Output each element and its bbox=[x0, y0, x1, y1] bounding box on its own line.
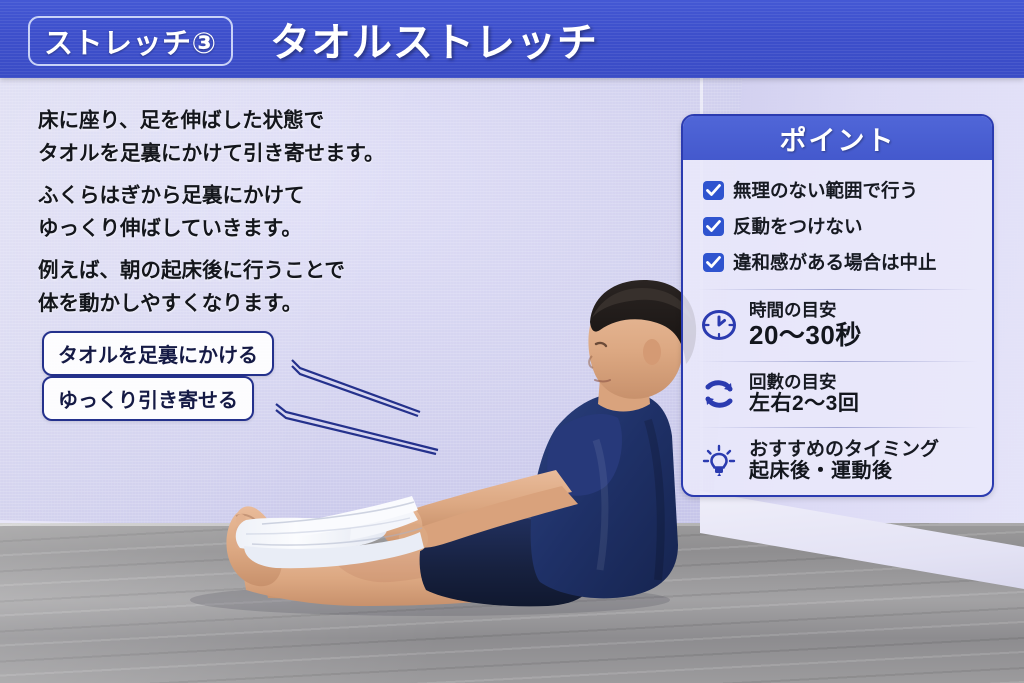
info-duration-texts: 時間の目安 20〜30秒 bbox=[749, 301, 862, 350]
info-repetitions-value: 左右2〜3回 bbox=[749, 392, 859, 416]
description-text: 床に座り、足を伸ばした状態で タオルを足裏にかけて引き寄せます。 ふくらはぎから… bbox=[38, 104, 458, 329]
check-item-1: 無理のない範囲で行う bbox=[683, 172, 992, 208]
point-panel: ポイント 無理のない範囲で行う 反動をつけない 違和感がある場合は中止 bbox=[681, 114, 994, 497]
info-timing-value: 起床後・運動後 bbox=[749, 460, 939, 482]
page-title: タオルストレッチ bbox=[270, 10, 598, 68]
info-repetitions-texts: 回數の目安 左右2〜3回 bbox=[749, 373, 859, 416]
clock-icon bbox=[699, 305, 739, 345]
check-item-2: 反動をつけない bbox=[683, 208, 992, 244]
callout-pull-slowly: ゆっくり引き寄せる bbox=[42, 376, 254, 421]
description-paragraph-3: 例えば、朝の起床後に行うことで 体を動かしやすくなります。 bbox=[38, 254, 458, 320]
description-paragraph-1: 床に座り、足を伸ばした状態で タオルを足裏にかけて引き寄せます。 bbox=[38, 104, 458, 170]
check-icon bbox=[703, 217, 724, 236]
lightbulb-icon bbox=[699, 441, 739, 481]
info-duration: 時間の目安 20〜30秒 bbox=[683, 299, 992, 352]
info-timing: おすすめのタイミング 起床後・運動後 bbox=[683, 437, 992, 485]
check-icon bbox=[703, 253, 724, 272]
info-timing-texts: おすすめのタイミング 起床後・運動後 bbox=[749, 439, 939, 483]
check-item-3: 違和感がある場合は中止 bbox=[683, 244, 992, 280]
info-duration-value: 20〜30秒 bbox=[749, 321, 862, 350]
callout-towel-on-sole: タオルを足裏にかける bbox=[42, 331, 274, 376]
header-bar: ストレッチ③ タオルストレッチ bbox=[0, 0, 1024, 78]
check-icon bbox=[703, 181, 724, 200]
panel-divider-2 bbox=[697, 361, 978, 362]
panel-divider-3 bbox=[697, 427, 978, 428]
point-panel-title: ポイント bbox=[683, 116, 992, 160]
info-timing-title: おすすめのタイミング bbox=[749, 439, 939, 460]
check-item-3-label: 違和感がある場合は中止 bbox=[733, 249, 937, 275]
info-repetitions: 回數の目安 左右2〜3回 bbox=[683, 371, 992, 418]
panel-divider-1 bbox=[697, 289, 978, 290]
refresh-icon bbox=[699, 374, 739, 414]
stretch-number-badge: ストレッチ③ bbox=[28, 16, 233, 66]
check-item-2-label: 反動をつけない bbox=[733, 213, 863, 239]
check-item-1-label: 無理のない範囲で行う bbox=[733, 177, 918, 203]
info-repetitions-title: 回數の目安 bbox=[749, 373, 859, 393]
slide-canvas: ストレッチ③ タオルストレッチ 床に座り、足を伸ばした状態で タオルを足裏にかけ… bbox=[0, 0, 1024, 683]
info-duration-title: 時間の目安 bbox=[749, 301, 862, 321]
description-paragraph-2: ふくらはぎから足裏にかけて ゆっくり伸ばしていきます。 bbox=[38, 179, 458, 245]
point-panel-body: 無理のない範囲で行う 反動をつけない 違和感がある場合は中止 bbox=[683, 160, 992, 484]
